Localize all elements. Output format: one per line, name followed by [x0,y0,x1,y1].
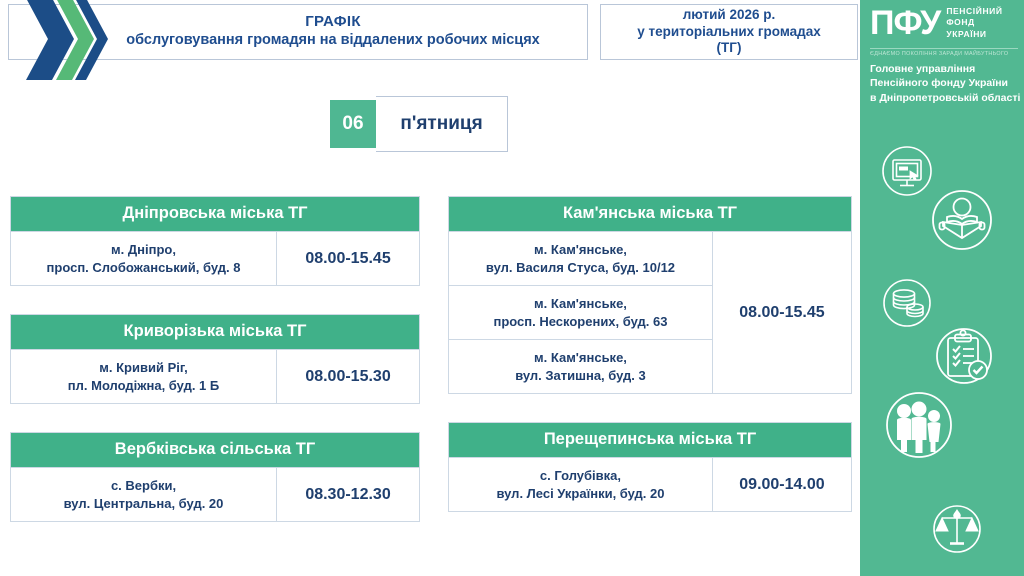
community-name: Криворізька міська ТГ [10,314,420,349]
community-block: Криворізька міська ТГм. Кривий Ріг,пл. М… [10,314,420,404]
period-box: лютий 2026 р. у територіальних громадах … [600,4,858,60]
brand-sidebar: ПФУ ПЕНСІЙНИЙ ФОНД УКРАЇНИ ЄДНАЄМО ПОКОЛ… [860,0,1024,576]
service-hours: 08.30-12.30 [277,468,420,522]
pfu-name-line1: ПЕНСІЙНИЙ [946,6,1002,17]
community-schedule-table: с. Вербки,вул. Центральна, буд. 2008.30-… [10,467,420,522]
pfu-full-name: ПЕНСІЙНИЙ ФОНД УКРАЇНИ [946,6,1002,40]
pfu-slogan: ЄДНАЄМО ПОКОЛІННЯ ЗАРАДИ МАЙБУТНЬОГО [870,48,1018,57]
office-address: м. Кривий Ріг,пл. Молодіжна, буд. 1 Б [11,350,277,404]
community-schedule-table: с. Голубівка,вул. Лесі Українки, буд. 20… [448,457,852,512]
service-hours: 08.00-15.30 [277,350,420,404]
page-subtitle: обслуговування громадян на віддалених ро… [56,31,539,50]
office-address: м. Кам'янське,вул. Василя Стуса, буд. 10… [449,232,713,286]
community-name: Кам'янська міська ТГ [448,196,852,231]
community-schedule-table: м. Кривий Ріг,пл. Молодіжна, буд. 1 Б08.… [10,349,420,404]
table-row: м. Кривий Ріг,пл. Молодіжна, буд. 1 Б08.… [11,350,420,404]
left-column: Дніпровська міська ТГм. Дніпро,просп. Сл… [10,196,420,550]
day-badge: 06 п'ятниця [330,100,508,148]
person-reading-book-icon [922,180,1002,260]
service-hours: 08.00-15.45 [712,232,851,394]
family-group-icon [876,382,962,468]
table-row: м. Дніпро,просп. Слобожанський, буд. 808… [11,232,420,286]
office-address: с. Голубівка,вул. Лесі Українки, буд. 20 [449,458,713,512]
table-row: с. Вербки,вул. Центральна, буд. 2008.30-… [11,468,420,522]
community-schedule-table: м. Дніпро,просп. Слобожанський, буд. 808… [10,231,420,286]
community-block: Кам'янська міська ТГм. Кам'янське,вул. В… [448,196,852,394]
service-hours: 09.00-14.00 [712,458,851,512]
right-column: Кам'янська міська ТГм. Кам'янське,вул. В… [448,196,852,540]
day-number: 06 [330,100,376,148]
chevron-logo-icon [12,0,108,82]
table-row: м. Кам'янське,вул. Василя Стуса, буд. 10… [449,232,852,286]
organisation-line1: Головне управління [870,62,1022,76]
period-month: лютий 2026 р. [683,7,776,23]
community-block: Дніпровська міська ТГм. Дніпро,просп. Сл… [10,196,420,286]
community-block: Перещепинська міська ТГс. Голубівка,вул.… [448,422,852,512]
pfu-name-line2: ФОНД [946,17,1002,28]
period-scope: у територіальних громадах [637,24,821,40]
community-block: Вербківська сільська ТГс. Вербки,вул. Це… [10,432,420,522]
page-title: ГРАФІК [235,14,361,31]
organisation-line2: Пенсійного фонду України [870,76,1022,90]
office-address: м. Кам'янське,просп. Нескорених, буд. 63 [449,286,713,340]
service-hours: 08.00-15.45 [277,232,420,286]
table-row: с. Голубівка,вул. Лесі Українки, буд. 20… [449,458,852,512]
organisation-name: Головне управління Пенсійного фонду Укра… [870,62,1022,105]
pfu-name-line3: УКРАЇНИ [946,29,1002,40]
scales-of-justice-icon [926,498,988,560]
office-address: м. Кам'янське,вул. Затишна, буд. 3 [449,340,713,394]
organisation-line3: в Дніпропетровській області [870,91,1022,105]
office-address: с. Вербки,вул. Центральна, буд. 20 [11,468,277,522]
pfu-logo: ПФУ ПЕНСІЙНИЙ ФОНД УКРАЇНИ [870,6,1018,40]
office-address: м. Дніпро,просп. Слобожанський, буд. 8 [11,232,277,286]
community-name: Вербківська сільська ТГ [10,432,420,467]
pfu-abbreviation: ПФУ [870,6,940,40]
period-abbr: (ТГ) [717,40,742,56]
day-weekday: п'ятниця [376,96,508,152]
community-name: Дніпровська міська ТГ [10,196,420,231]
community-name: Перещепинська міська ТГ [448,422,852,457]
community-schedule-table: м. Кам'янське,вул. Василя Стуса, буд. 10… [448,231,852,394]
